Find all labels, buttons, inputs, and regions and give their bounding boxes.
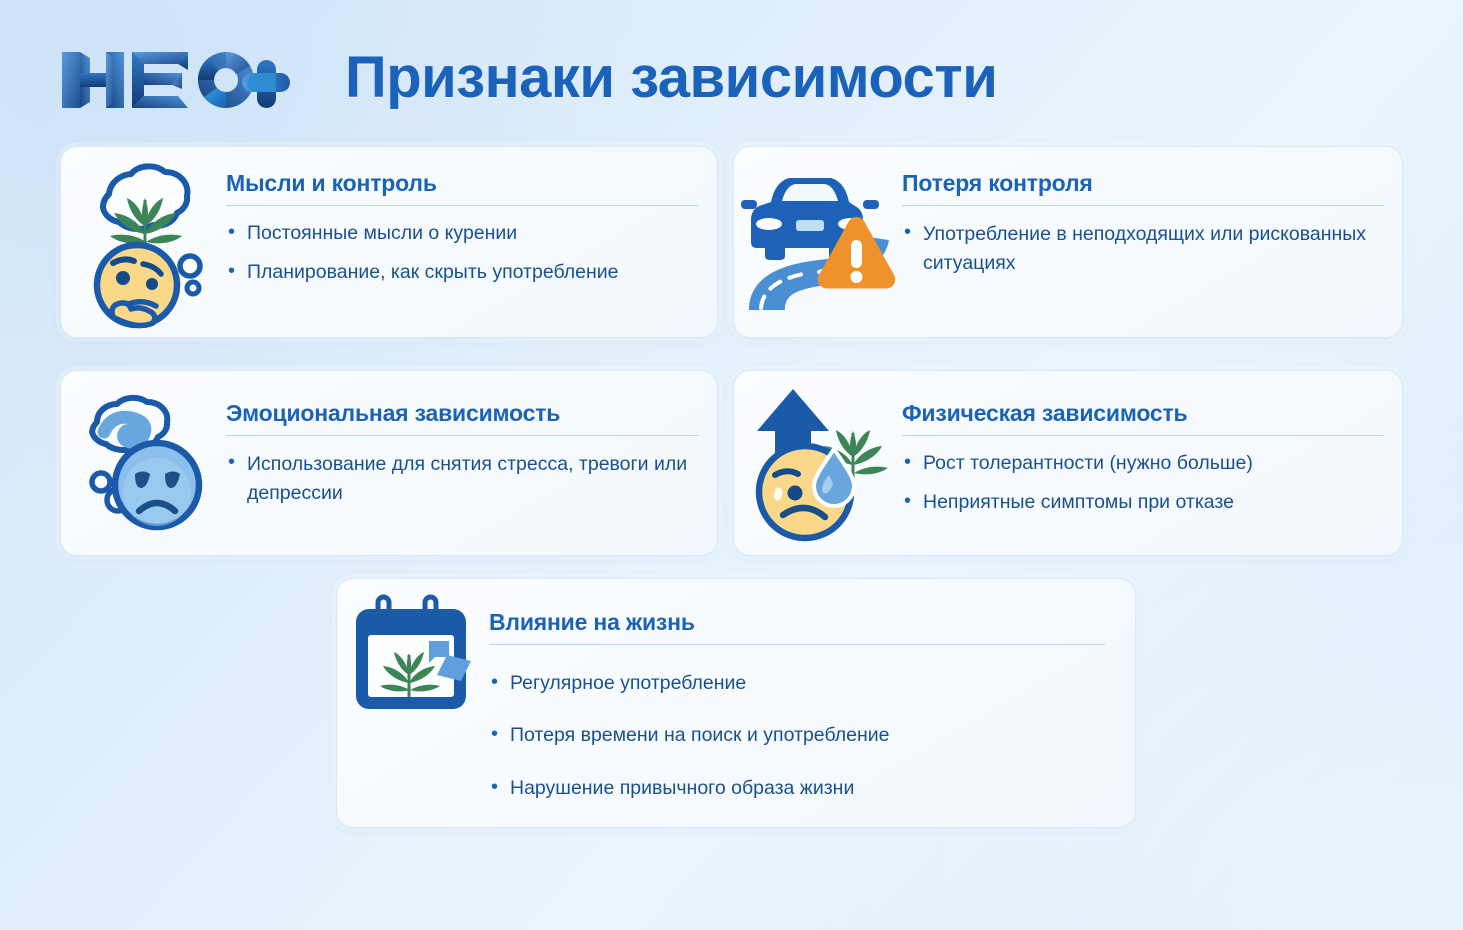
- page-title: Признаки зависимости: [345, 44, 997, 111]
- list-item: Потеря времени на поиск и употребление: [489, 722, 1105, 748]
- heading-divider: [902, 435, 1384, 436]
- header: Признаки зависимости: [0, 0, 1463, 138]
- logo-letter-e: [132, 52, 188, 108]
- heading-divider: [226, 205, 699, 206]
- list-item: Рост толерантности (нужно больше): [902, 450, 1384, 476]
- heading-divider: [489, 644, 1105, 645]
- list-item: Постоянные мысли о курении: [226, 220, 699, 246]
- card-body: Эмоциональная зависимость Использование …: [226, 371, 717, 507]
- infographic-page: Признаки зависимости: [0, 0, 1463, 930]
- list-item: Регулярное употребление: [489, 670, 1105, 696]
- thinking-face-cannabis-thought-bubble-icon: [61, 147, 226, 339]
- list-item: Нарушение привычного образа жизни: [489, 775, 1105, 801]
- card-thoughts-and-control: Мысли и контроль Постоянные мысли о куре…: [60, 146, 718, 338]
- card-heading: Потеря контроля: [902, 171, 1384, 196]
- list-item: Употребление в неподходящих или рискован…: [902, 220, 1384, 277]
- card-emotional-dependence: Эмоциональная зависимость Использование …: [60, 370, 718, 556]
- card-loss-of-control: Потеря контроля Употребление в неподходя…: [733, 146, 1403, 338]
- list-item: Неприятные симптомы при отказе: [902, 489, 1384, 515]
- card-heading: Эмоциональная зависимость: [226, 401, 699, 426]
- list-item: Планирование, как скрыть употребление: [226, 259, 699, 285]
- heading-divider: [902, 205, 1384, 206]
- points-list: Постоянные мысли о курении Планирование,…: [226, 220, 699, 285]
- card-heading: Физическая зависимость: [902, 401, 1384, 426]
- card-body: Влияние на жизнь Регулярное употребление…: [489, 579, 1135, 801]
- card-heading: Влияние на жизнь: [489, 610, 1105, 635]
- car-road-warning-triangle-icon: [734, 147, 902, 339]
- points-list: Рост толерантности (нужно больше) Неприя…: [902, 450, 1384, 515]
- points-list: Регулярное употребление Потеря времени н…: [489, 670, 1105, 800]
- card-impact-on-life: Влияние на жизнь Регулярное употребление…: [336, 578, 1136, 828]
- card-physical-dependence: Физическая зависимость Рост толерантност…: [733, 370, 1403, 556]
- up-arrow-cannabis-sweating-face-icon: [734, 371, 902, 557]
- card-body: Физическая зависимость Рост толерантност…: [902, 371, 1402, 516]
- heading-divider: [226, 435, 699, 436]
- logo-letter-h: [62, 52, 124, 108]
- calendar-cannabis-icon: [337, 579, 489, 847]
- list-item: Использование для снятия стресса, тревог…: [226, 450, 699, 507]
- card-heading: Мысли и контроль: [226, 171, 699, 196]
- card-body: Мысли и контроль Постоянные мысли о куре…: [226, 147, 717, 286]
- points-list: Употребление в неподходящих или рискован…: [902, 220, 1384, 277]
- card-body: Потеря контроля Употребление в неподходя…: [902, 147, 1402, 277]
- points-list: Использование для снятия стресса, тревог…: [226, 450, 699, 507]
- sad-blue-face-thought-bubble-icon: [61, 371, 226, 557]
- neo-plus-logo: [60, 44, 290, 116]
